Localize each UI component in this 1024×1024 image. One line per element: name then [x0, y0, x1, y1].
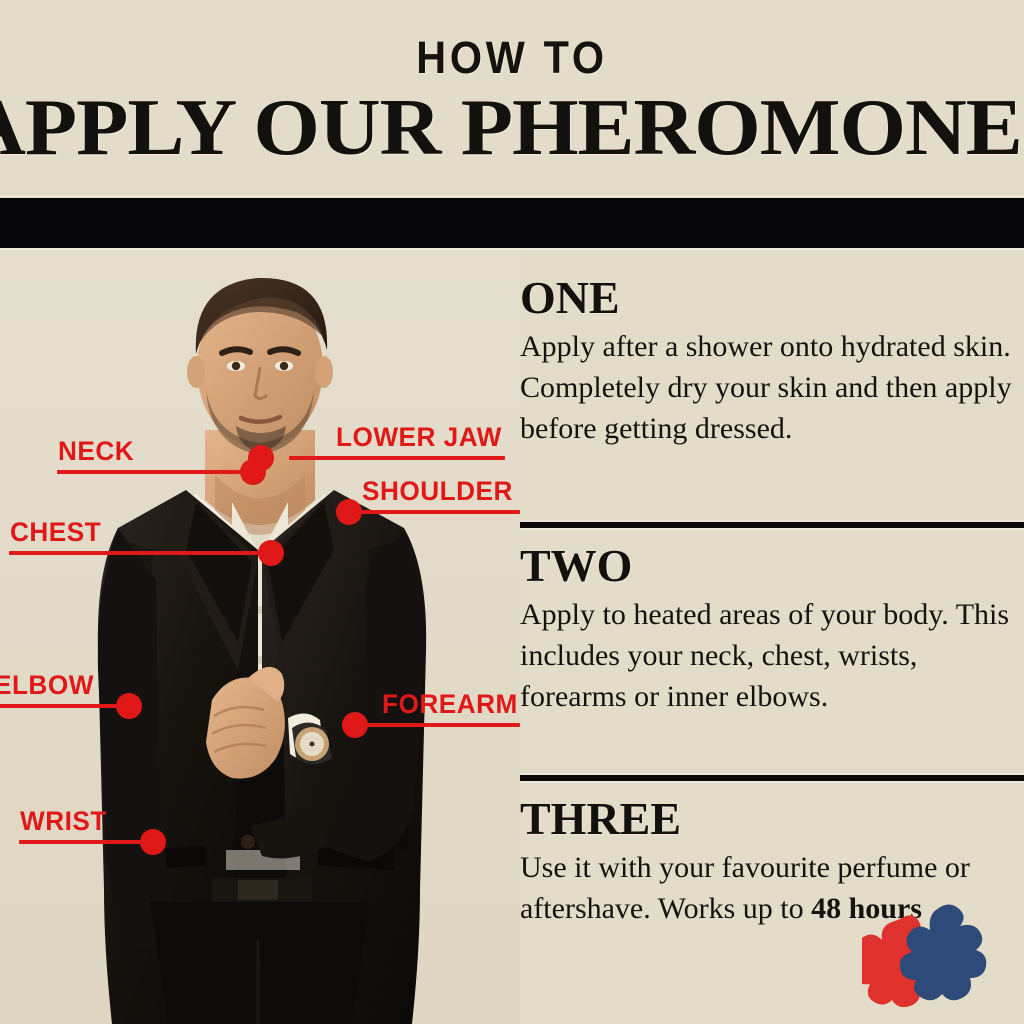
annotation-leader-line-wrist: [19, 840, 149, 844]
step-two: TWO Apply to heated areas of your body. …: [520, 542, 1024, 717]
kicker-text: HOW TO: [41, 32, 983, 84]
annotation-label-shoulder: SHOULDER: [362, 478, 513, 505]
annotation-label-chest: CHEST: [10, 519, 101, 546]
step-three-number: THREE: [520, 795, 1024, 843]
step-two-body: Apply to heated areas of your body. This…: [520, 594, 1024, 717]
annotation-marker-dot-forearm[interactable]: [342, 712, 368, 738]
man-in-suit-photo: [0, 250, 520, 1024]
annotation-label-lower-jaw: LOWER JAW: [336, 424, 502, 451]
annotation-marker-dot-elbow[interactable]: [116, 693, 142, 719]
step-one-number: ONE: [520, 274, 1024, 322]
step-one: ONE Apply after a shower onto hydrated s…: [520, 274, 1024, 449]
puzzle-pieces-logo: [862, 896, 1002, 1014]
annotation-leader-line-forearm: [357, 723, 520, 727]
bar-hairline-top: [0, 195, 1024, 197]
divider-two: [520, 775, 1024, 781]
annotation-marker-dot-chest[interactable]: [258, 540, 284, 566]
annotation-marker-dot-lower-jaw[interactable]: [248, 445, 274, 471]
annotation-label-wrist: WRIST: [20, 808, 107, 835]
annotation-leader-line-lower-jaw: [289, 456, 505, 460]
headline-text: APPLY OUR PHEROMONES: [0, 88, 1024, 168]
annotation-label-elbow: ELBOW: [0, 672, 94, 699]
step-two-number: TWO: [520, 542, 1024, 590]
annotation-leader-line-elbow: [0, 704, 126, 708]
annotation-marker-dot-wrist[interactable]: [140, 829, 166, 855]
annotation-label-forearm: FOREARM: [382, 691, 518, 718]
annotation-leader-line-neck: [57, 470, 255, 474]
infographic-poster: HOW TO APPLY OUR PHEROMONES: [0, 0, 1024, 1024]
step-one-body: Apply after a shower onto hydrated skin.…: [520, 326, 1024, 449]
poster-header: HOW TO APPLY OUR PHEROMONES: [0, 0, 1024, 198]
black-divider-bar: [0, 198, 1024, 248]
annotation-leader-line-shoulder: [352, 510, 520, 514]
divider-one: [520, 522, 1024, 528]
annotation-leader-line-chest: [9, 551, 265, 555]
annotation-marker-dot-shoulder[interactable]: [336, 499, 362, 525]
annotation-label-neck: NECK: [58, 438, 134, 465]
photo-panel: [0, 250, 520, 1024]
